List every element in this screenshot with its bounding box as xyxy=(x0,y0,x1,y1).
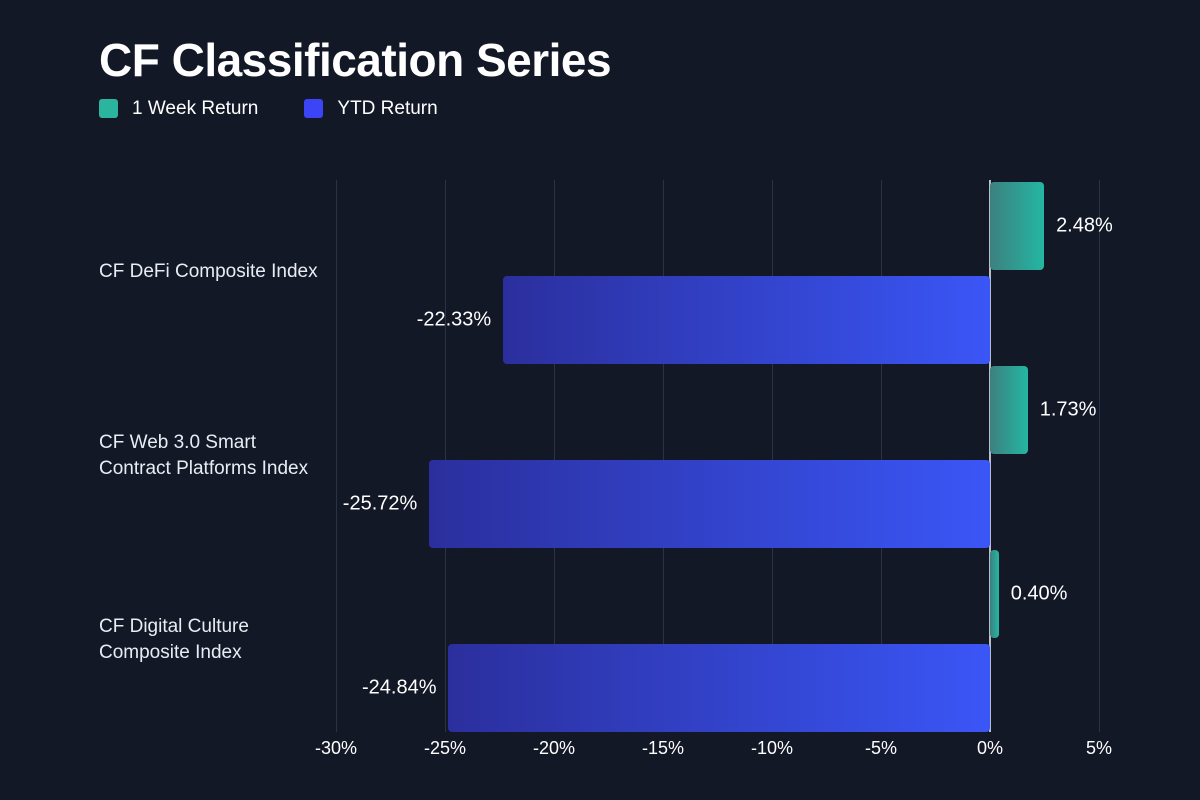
legend-label: 1 Week Return xyxy=(132,99,258,118)
bar-ytd-return[interactable] xyxy=(448,644,990,732)
legend-label: YTD Return xyxy=(337,99,437,118)
bar-1-week-return[interactable] xyxy=(990,182,1044,270)
bar-ytd-return[interactable] xyxy=(429,460,990,548)
bar-value-label: -24.84% xyxy=(362,677,437,700)
x-axis-tick-label: 5% xyxy=(1086,738,1112,759)
legend-swatch-icon xyxy=(304,99,323,118)
category-axis-labels: CF DeFi Composite IndexCF Web 3.0 Smart … xyxy=(99,180,324,732)
gridline xyxy=(445,180,446,732)
bar-1-week-return[interactable] xyxy=(990,550,999,638)
category-label: CF Digital Culture Composite Index xyxy=(99,614,324,666)
gridline xyxy=(336,180,337,732)
bar-value-label: 1.73% xyxy=(1040,399,1097,422)
x-axis-tick-label: -5% xyxy=(865,738,897,759)
x-axis-tick-label: -20% xyxy=(533,738,575,759)
bar-value-label: -25.72% xyxy=(343,493,418,516)
plot-area: 2.48%-22.33%1.73%-25.72%0.40%-24.84% xyxy=(336,180,1099,732)
category-label: CF DeFi Composite Index xyxy=(99,259,324,285)
category-label: CF Web 3.0 Smart Contract Platforms Inde… xyxy=(99,430,324,482)
chart-page: CF Classification Series 1 Week Return Y… xyxy=(0,0,1200,800)
bar-value-label: -22.33% xyxy=(417,309,492,332)
legend-item-1-week-return[interactable]: 1 Week Return xyxy=(99,99,258,118)
x-axis-tick-label: -30% xyxy=(315,738,357,759)
x-axis-tick-label: -15% xyxy=(642,738,684,759)
bar-value-label: 2.48% xyxy=(1056,215,1113,238)
bar-1-week-return[interactable] xyxy=(990,366,1028,454)
x-axis: -30%-25%-20%-15%-10%-5%0%5% xyxy=(336,738,1099,768)
chart-legend: 1 Week Return YTD Return xyxy=(99,99,438,118)
bar-value-label: 0.40% xyxy=(1011,583,1068,606)
x-axis-tick-label: 0% xyxy=(977,738,1003,759)
x-axis-tick-label: -25% xyxy=(424,738,466,759)
gridline xyxy=(1099,180,1100,732)
bar-ytd-return[interactable] xyxy=(503,276,990,364)
page-title: CF Classification Series xyxy=(99,36,611,84)
legend-swatch-icon xyxy=(99,99,118,118)
x-axis-tick-label: -10% xyxy=(751,738,793,759)
legend-item-ytd-return[interactable]: YTD Return xyxy=(304,99,437,118)
